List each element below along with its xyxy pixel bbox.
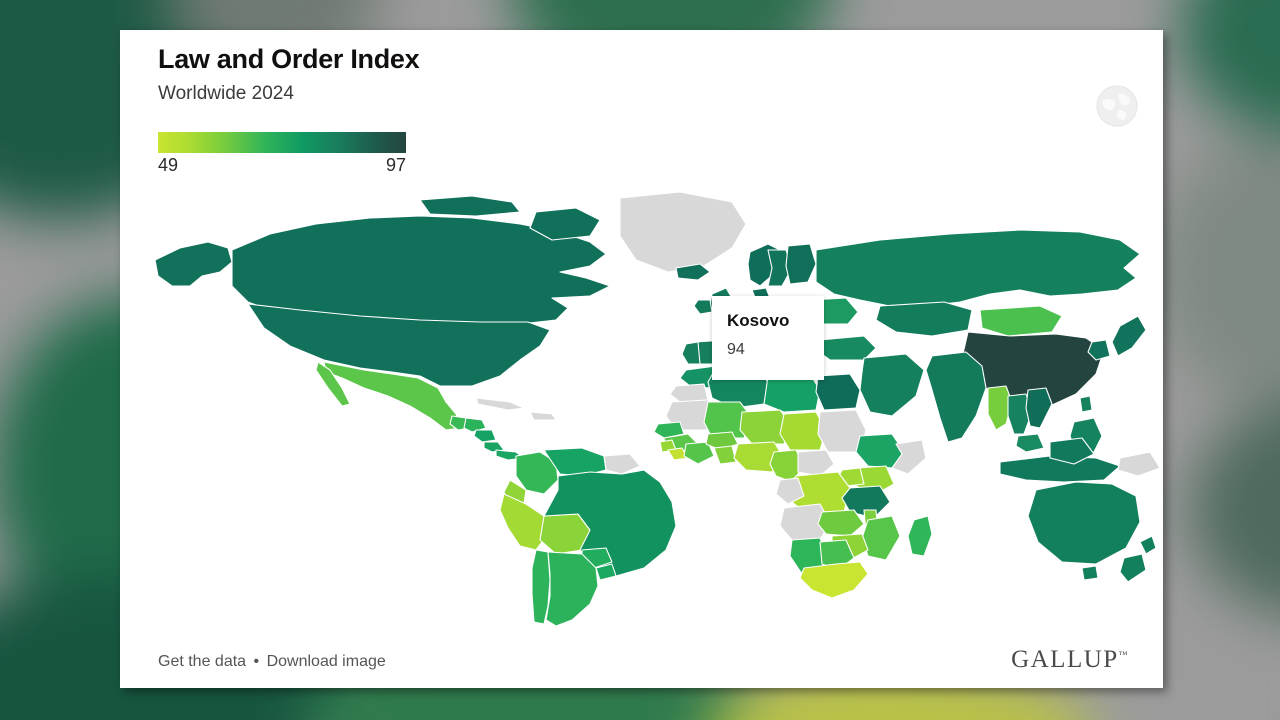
region-ghana[interactable]	[714, 446, 736, 464]
world-map[interactable]	[120, 190, 1163, 630]
region-guyanas[interactable]	[604, 454, 640, 474]
region-alaska[interactable]	[155, 242, 232, 286]
region-greenland[interactable]	[620, 192, 746, 272]
world-map-svg[interactable]	[120, 190, 1163, 630]
region-vietnam[interactable]	[1026, 388, 1052, 428]
tooltip-value: 94	[727, 341, 745, 359]
region-car[interactable]	[798, 450, 834, 476]
trademark-mark: ™	[1119, 650, 1129, 660]
region-turkey[interactable]	[816, 336, 876, 360]
region-cuba[interactable]	[476, 398, 524, 410]
region-tasmania[interactable]	[1082, 566, 1098, 580]
globe-icon	[1096, 85, 1138, 127]
region-malaysia[interactable]	[1016, 434, 1044, 452]
region-russia[interactable]	[816, 230, 1140, 306]
gallup-logo: GALLUP™	[1011, 646, 1129, 674]
region-arctic-islands[interactable]	[420, 196, 520, 216]
region-nicaragua[interactable]	[474, 430, 496, 442]
region-madagascar[interactable]	[908, 516, 932, 556]
page-title: Law and Order Index	[158, 44, 419, 75]
region-middle-east[interactable]	[860, 354, 924, 416]
region-argentina[interactable]	[546, 552, 598, 626]
region-south-africa[interactable]	[800, 562, 868, 598]
legend-max-label: 97	[386, 155, 406, 176]
region-finland[interactable]	[786, 244, 816, 284]
region-hispaniola[interactable]	[530, 412, 556, 420]
region-portugal[interactable]	[682, 342, 700, 364]
legend-min-label: 49	[158, 155, 178, 176]
region-mozambique[interactable]	[862, 516, 900, 560]
color-legend: 49 97	[158, 132, 406, 177]
tooltip-country-name: Kosovo	[727, 311, 789, 331]
get-the-data-link[interactable]: Get the data	[158, 653, 246, 670]
footer-links: Get the data • Download image	[158, 653, 386, 671]
region-zambia[interactable]	[818, 510, 864, 536]
region-western-sahara[interactable]	[670, 384, 708, 402]
gallup-wordmark: GALLUP	[1011, 646, 1119, 673]
region-kazakhstan[interactable]	[876, 302, 972, 336]
region-australia[interactable]	[1028, 482, 1140, 564]
region-ireland[interactable]	[694, 300, 712, 314]
region-mongolia[interactable]	[980, 306, 1062, 336]
legend-labels: 49 97	[158, 155, 406, 177]
map-card: Law and Order Index Worldwide 2024 49 97	[120, 30, 1163, 688]
page-subtitle: Worldwide 2024	[158, 83, 294, 105]
map-tooltip: Kosovo 94	[712, 296, 824, 380]
region-japan[interactable]	[1112, 316, 1146, 356]
region-taiwan[interactable]	[1080, 396, 1092, 412]
footer-separator: •	[254, 653, 260, 670]
screenshot-root: Law and Order Index Worldwide 2024 49 97	[0, 0, 1280, 720]
download-image-link[interactable]: Download image	[267, 653, 386, 670]
legend-gradient-bar	[158, 132, 406, 153]
region-papua-new-guinea[interactable]	[1118, 452, 1160, 476]
region-india[interactable]	[926, 352, 986, 442]
